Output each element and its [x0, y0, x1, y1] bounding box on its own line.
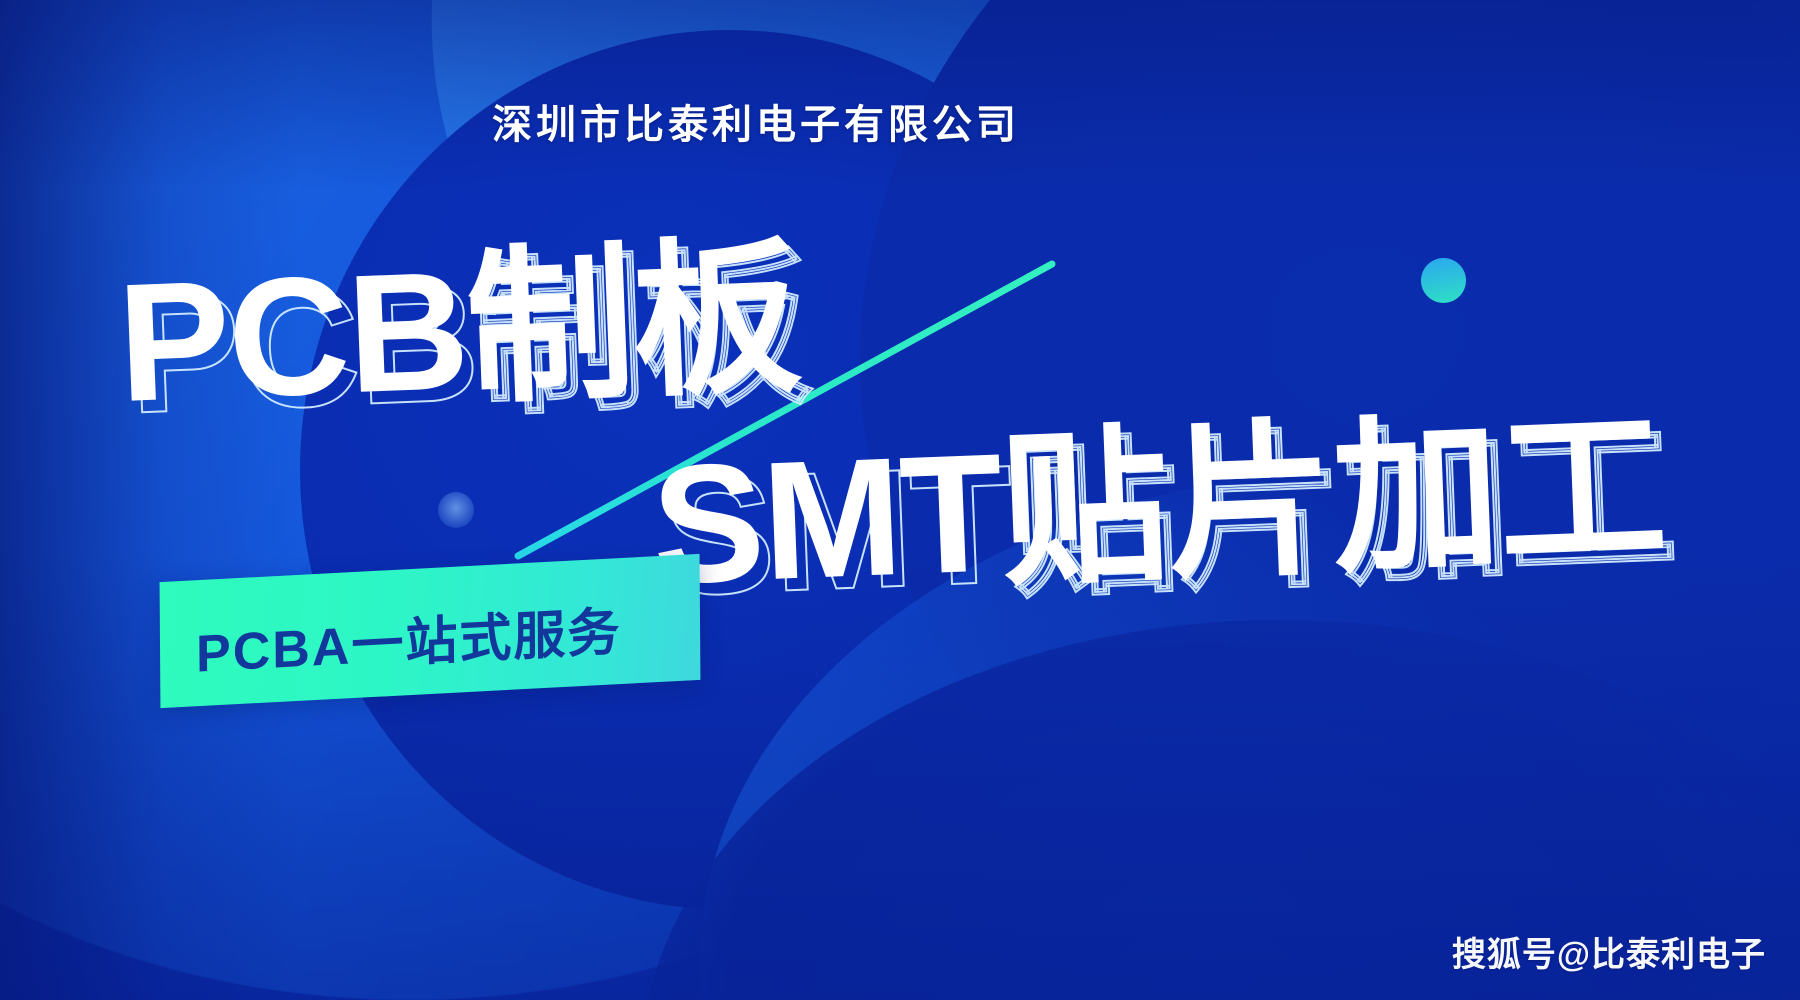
promo-banner: 深圳市比泰利电子有限公司 PCB制板 PCB制板 SMT贴片加工 SMT贴片加工… [0, 0, 1800, 1000]
headline-line-2-text: SMT贴片加工 [649, 393, 1668, 620]
headline-line-1-text: PCB制板 [115, 223, 802, 437]
watermark: 搜狐号@比泰利电子 [1452, 927, 1766, 976]
headline-line-1: PCB制板 PCB制板 [115, 233, 802, 427]
headline-block: PCB制板 PCB制板 SMT贴片加工 SMT贴片加工 [0, 0, 1800, 1000]
headline-line-2: SMT贴片加工 SMT贴片加工 [649, 403, 1667, 610]
